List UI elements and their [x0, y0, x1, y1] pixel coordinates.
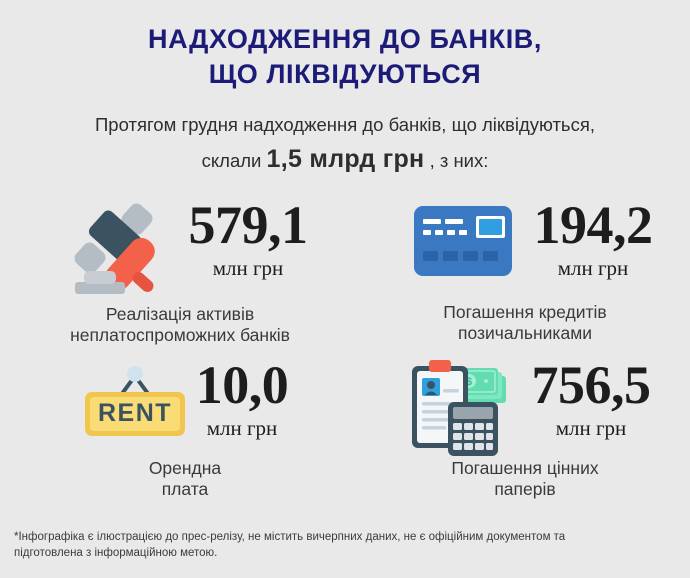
stat-value-group: 756,5 млн грн — [532, 356, 651, 441]
subtitle-suffix: , з них: — [430, 150, 489, 171]
stat-value-group: 194,2 млн грн — [534, 196, 653, 281]
stat-unit: млн грн — [532, 416, 651, 441]
page-title-line1: НАДХОДЖЕННЯ ДО БАНКІВ, — [148, 24, 542, 54]
stat-caption: Погашення кредитів позичальниками — [360, 302, 690, 343]
footnote: *Інфографіка є ілюстрацією до прес-реліз… — [14, 529, 676, 562]
securities-documents-icon: $ — [408, 356, 518, 456]
page-title-line2: ЩО ЛІКВІДУЮТЬСЯ — [209, 59, 482, 89]
stat-value: 579,1 — [189, 200, 308, 252]
stat-value-group: 10,0 млн грн — [196, 356, 289, 441]
subtitle: Протягом грудня надходження до банків, щ… — [25, 111, 665, 178]
page-title: НАДХОДЖЕННЯ ДО БАНКІВ, ЩО ЛІКВІДУЮТЬСЯ — [0, 22, 690, 91]
stat-card-loan-repayments: 194,2 млн грн Погашення кредитів позичал… — [360, 196, 690, 356]
stat-caption-line1: Погашення кредитів — [443, 302, 606, 322]
stat-caption-line1: Реалізація активів — [106, 304, 254, 324]
stat-caption: Погашення цінних паперів — [360, 458, 690, 499]
stat-caption-line2: позичальниками — [458, 323, 592, 343]
stat-caption: Реалізація активів неплатоспроможних бан… — [0, 304, 360, 345]
stat-unit: млн грн — [534, 256, 653, 281]
footnote-line1: *Інфографіка є ілюстрацією до прес-реліз… — [14, 531, 565, 543]
rent-sign-icon: RENT — [80, 356, 190, 456]
stat-value: 756,5 — [532, 360, 651, 412]
stat-value: 10,0 — [196, 360, 289, 412]
stat-card-asset-sales: 579,1 млн грн Реалізація активів неплато… — [0, 196, 360, 356]
stat-card-rent-payments: RENT 10,0 млн грн Орендна плата — [0, 356, 360, 516]
stat-caption-line2: плата — [162, 479, 209, 499]
stat-caption-line1: Орендна — [149, 458, 221, 478]
gavel-icon — [67, 196, 177, 296]
svg-text:RENT: RENT — [98, 399, 172, 427]
credit-card-icon — [408, 196, 518, 296]
subtitle-prefix: склали — [202, 150, 262, 171]
subtitle-amount: 1,5 млрд грн — [267, 145, 425, 173]
footnote-line2: підготовлена з інформаційною метою. — [14, 547, 217, 559]
stats-grid: 579,1 млн грн Реалізація активів неплато… — [0, 196, 690, 516]
stat-value: 194,2 — [534, 200, 653, 252]
stat-card-securities-repayments: $ — [360, 356, 690, 516]
header: НАДХОДЖЕННЯ ДО БАНКІВ, ЩО ЛІКВІДУЮТЬСЯ П… — [0, 0, 690, 178]
subtitle-line1: Протягом грудня надходження до банків, щ… — [95, 114, 595, 135]
stat-value-group: 579,1 млн грн — [189, 196, 308, 281]
stat-caption-line2: паперів — [494, 479, 555, 499]
calculator — [448, 402, 498, 456]
stat-caption: Орендна плата — [10, 458, 360, 499]
stat-unit: млн грн — [196, 416, 289, 441]
stat-caption-line2: неплатоспроможних банків — [70, 325, 290, 345]
stat-caption-line1: Погашення цінних — [451, 458, 598, 478]
stat-unit: млн грн — [189, 256, 308, 281]
subtitle-line2: склали 1,5 млрд грн , з них: — [25, 141, 665, 179]
